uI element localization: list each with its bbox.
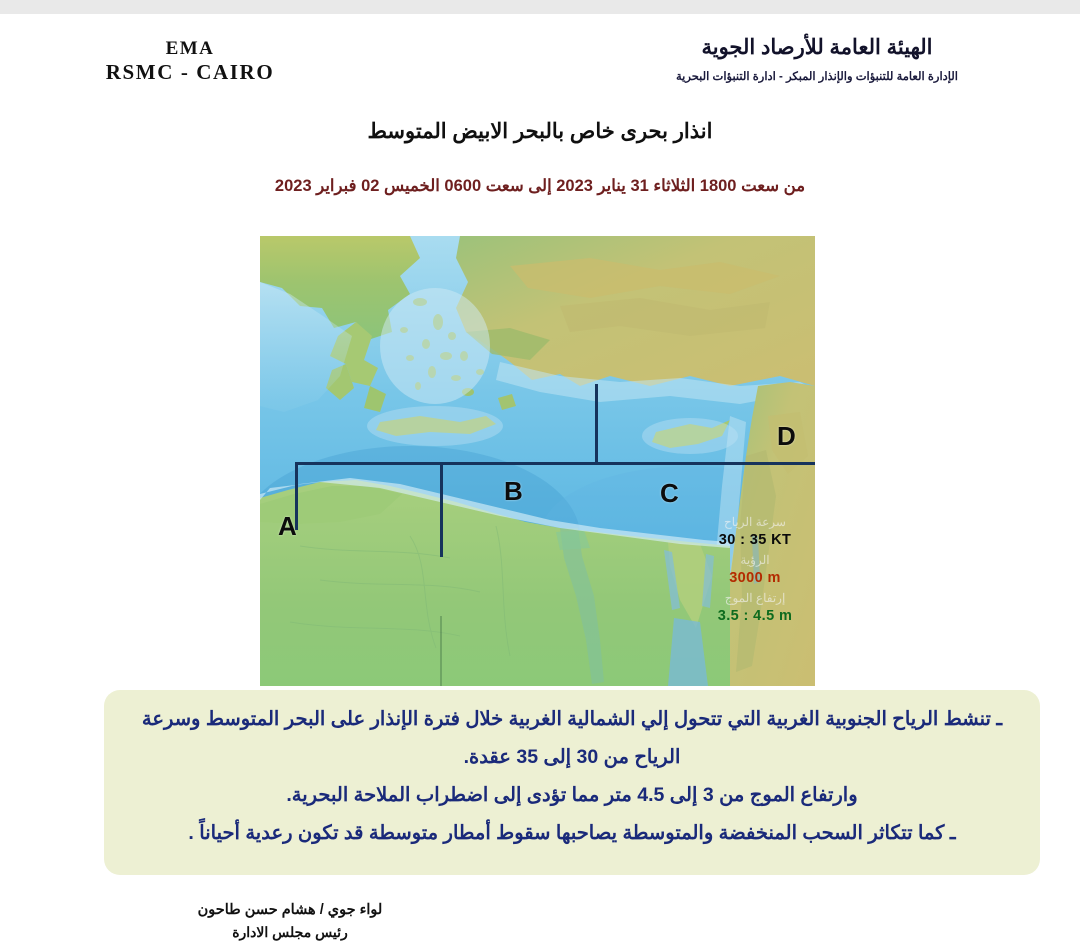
warning-line-2: وارتفاع الموج من 3 إلى 4.5 متر مما تؤدى … [130, 776, 1014, 814]
zone-b-visibility-value: 3000 m [680, 568, 815, 590]
warning-line-1: ـ تنشط الرياح الجنوبية الغربية التي تتحو… [130, 700, 1014, 776]
zone-label-c: C [660, 478, 679, 509]
zone-label-d: D [777, 421, 796, 452]
zone-b-visibility-caption: الرؤية [680, 552, 815, 568]
zone-boundary-vertical-c [595, 384, 598, 465]
map-internal-border-line [440, 616, 442, 686]
warning-text-box: ـ تنشط الرياح الجنوبية الغربية التي تتحو… [104, 690, 1040, 875]
zone-label-b: B [504, 476, 523, 507]
organization-title: الهيئة العامة للأرصاد الجوية [582, 34, 1052, 61]
logo-ema-text: EMA [40, 38, 340, 60]
top-grey-band [0, 0, 1080, 14]
organization-header: الهيئة العامة للأرصاد الجوية الإدارة الع… [582, 34, 1052, 83]
validity-period: من سعت 1800 الثلاثاء 31 يناير 2023 إلى س… [0, 176, 1080, 196]
agency-logo-block: EMA RSMC - CAIRO [40, 38, 340, 84]
zone-boundary-horizontal [295, 462, 815, 465]
forecast-map: A B C D سرعة الرياح 30 : 35 KT الرؤية 30… [260, 236, 815, 686]
zone-b-wind-value: 30 : 35 KT [680, 530, 815, 552]
zone-label-a: A [278, 511, 297, 542]
signature-block: لواء جوي / هشام حسن طاحون رئيس مجلس الاد… [110, 900, 470, 943]
signatory-role: رئيس مجلس الادارة [110, 922, 470, 943]
warning-line-3: ـ كما تتكاثر السحب المنخفضة والمتوسطة يص… [130, 814, 1014, 852]
zone-b-readout: سرعة الرياح 30 : 35 KT الرؤية 3000 m إرت… [680, 514, 815, 628]
document-sheet: EMA RSMC - CAIRO الهيئة العامة للأرصاد ا… [0, 14, 1080, 945]
organization-subtitle: الإدارة العامة للتنبؤات والإنذار المبكر … [582, 69, 1052, 83]
zone-boundary-vertical-b [440, 462, 443, 557]
zone-b-wind-caption: سرعة الرياح [680, 514, 815, 530]
signatory-name: لواء جوي / هشام حسن طاحون [110, 900, 470, 922]
page-title: انذار بحرى خاص بالبحر الابيض المتوسط [0, 119, 1080, 144]
zone-b-wave-value: 3.5 : 4.5 m [680, 606, 815, 628]
zone-b-wave-caption: إرتفاع الموج [680, 590, 815, 606]
logo-rsmc-cairo-text: RSMC - CAIRO [40, 60, 340, 84]
